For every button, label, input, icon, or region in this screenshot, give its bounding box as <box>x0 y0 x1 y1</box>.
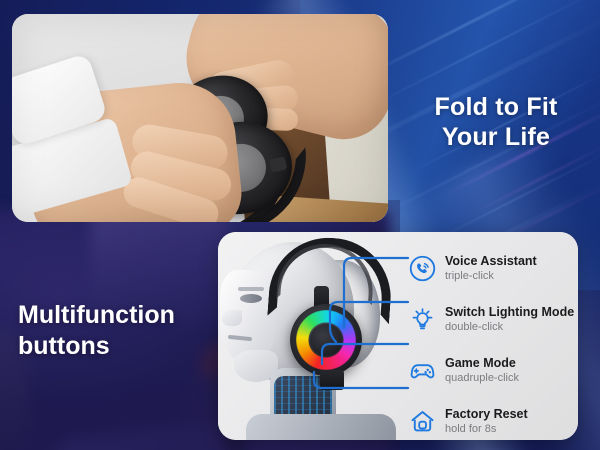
robot-brow <box>238 287 264 291</box>
feature-action: triple-click <box>445 269 537 283</box>
headline: Fold to Fit Your Life <box>396 92 596 152</box>
robot-head-illustration <box>218 232 408 440</box>
feature-title: Voice Assistant <box>445 254 537 269</box>
game-controller-icon <box>408 356 436 384</box>
feature-text: Factory Reset hold for 8s <box>445 407 528 436</box>
caption-line-1: Multifunction <box>18 300 238 331</box>
section-caption: Multifunction buttons <box>18 300 238 362</box>
feature-item-game-mode[interactable]: Game Mode quadruple-click <box>408 348 576 392</box>
feature-text: Switch Lighting Mode double-click <box>445 305 574 334</box>
home-icon <box>408 407 436 435</box>
robot-shoulder <box>246 414 396 440</box>
caption-line-2: buttons <box>18 331 238 362</box>
feature-title: Switch Lighting Mode <box>445 305 574 320</box>
feature-title: Factory Reset <box>445 407 528 422</box>
feature-action: hold for 8s <box>445 422 528 436</box>
photo-vignette <box>12 14 388 222</box>
robot-nose <box>222 310 242 326</box>
headphone-earcup-center <box>310 324 342 356</box>
feature-card: Voice Assistant triple-click <box>218 232 578 440</box>
voice-call-icon <box>408 254 436 282</box>
feature-title: Game Mode <box>445 356 519 371</box>
headphone-earcup-arm <box>320 370 344 390</box>
promo-banner: Fold to Fit Your Life Multifunction butt… <box>0 0 600 450</box>
robot-eye <box>240 294 262 303</box>
product-photo-card <box>12 14 388 222</box>
headline-line-2: Your Life <box>396 122 596 152</box>
feature-text: Voice Assistant triple-click <box>445 254 537 283</box>
feature-action: quadruple-click <box>445 371 519 385</box>
feature-action: double-click <box>445 320 574 334</box>
feature-text: Game Mode quadruple-click <box>445 356 519 385</box>
lightbulb-icon <box>408 305 436 333</box>
feature-item-switch-lighting-mode[interactable]: Switch Lighting Mode double-click <box>408 297 576 341</box>
feature-item-voice-assistant[interactable]: Voice Assistant triple-click <box>408 246 576 290</box>
feature-item-factory-reset[interactable]: Factory Reset hold for 8s <box>408 399 576 440</box>
headline-line-1: Fold to Fit <box>396 92 596 122</box>
feature-list: Voice Assistant triple-click <box>408 246 576 440</box>
